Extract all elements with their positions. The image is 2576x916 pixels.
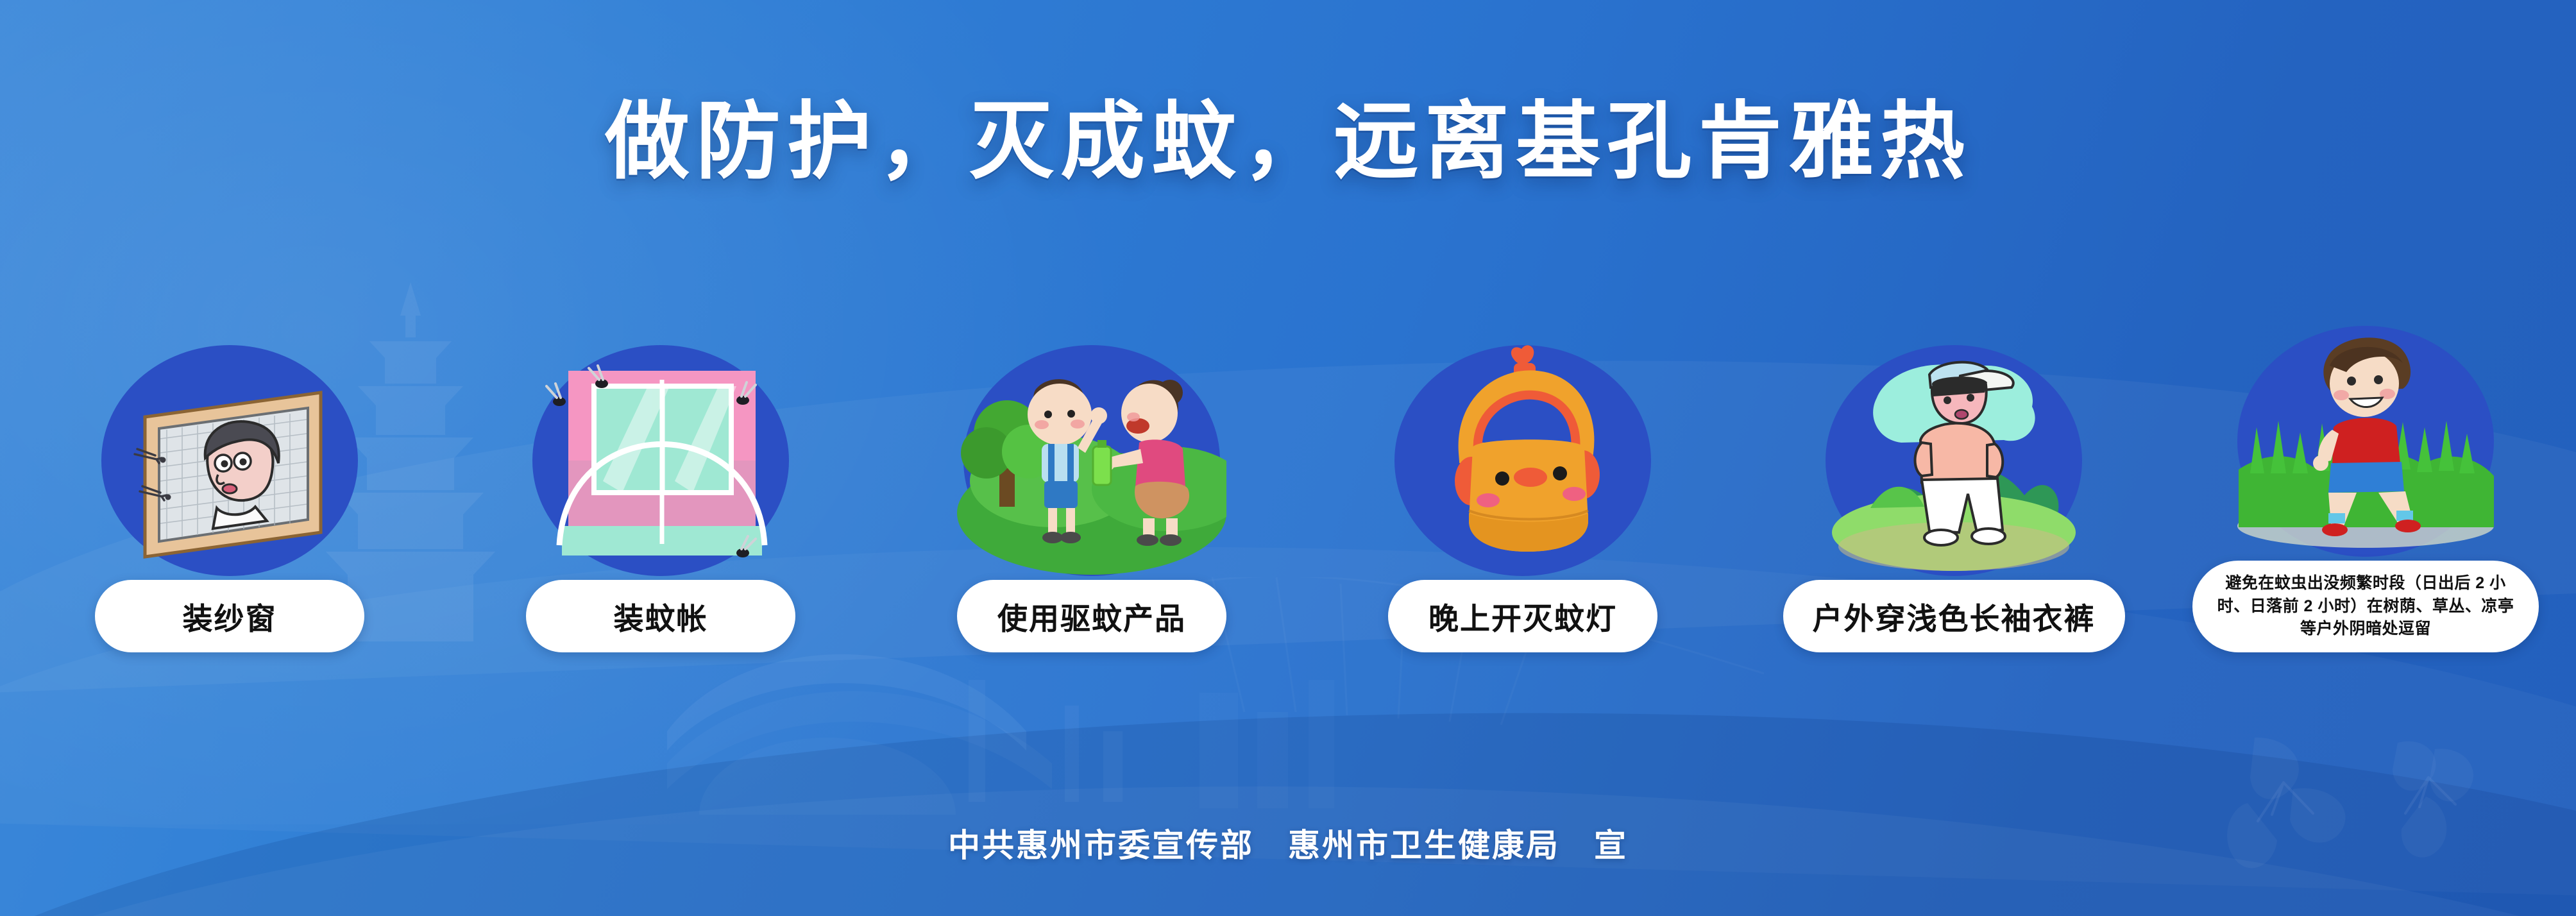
health-poster-banner: 做防护，灭成蚊，远离基孔肯雅热 [0,0,2576,916]
measure-label: 装纱窗 [95,580,364,652]
measure-art-area [1755,314,2153,584]
measure-art-area [31,314,428,584]
light-long-sleeve-clothing-illustration-icon [1819,321,2089,584]
measure-label: 避免在蚊虫出没频繁时段（日出后 2 小时、日落前 2 小时）在树荫、草丛、凉亭等… [2192,561,2539,652]
measure-art-area [2186,295,2545,564]
measure-card-mosquito-net[interactable]: 装蚊帐 [462,314,860,652]
measure-card-mosquito-lamp[interactable]: 晚上开灭蚊灯 [1324,314,1722,652]
window-screen-illustration-icon [95,321,364,584]
mosquito-lamp-illustration-icon [1388,321,1657,584]
measure-label: 晚上开灭蚊灯 [1388,580,1657,652]
mosquito-net-illustration-icon [526,321,795,584]
measure-art-area [893,314,1291,584]
measure-card-repellent[interactable]: 使用驱蚊产品 [893,314,1291,652]
measure-label: 户外穿浅色长袖衣裤 [1783,580,2125,652]
footer-container: 中共惠州市委宣传部 惠州市卫生健康局 宣 [0,820,2576,866]
background-sweep-lower [0,681,2576,916]
measure-art-area [462,314,860,584]
measure-label: 使用驱蚊产品 [957,580,1226,652]
measure-card-window-screen[interactable]: 装纱窗 [31,314,428,652]
headline-container: 做防护，灭成蚊，远离基孔肯雅热 [0,32,2576,251]
page-title: 做防护，灭成蚊，远离基孔肯雅热 [605,89,1971,194]
footer-credit: 中共惠州市委宣传部 惠州市卫生健康局 宣 [948,827,1628,863]
measure-art-area [1324,314,1722,584]
measure-label: 装蚊帐 [526,580,795,652]
mosquito-repellent-illustration-icon [957,321,1226,584]
measure-card-long-sleeves[interactable]: 户外穿浅色长袖衣裤 [1755,314,2153,652]
measure-card-avoid-dusk[interactable]: 避免在蚊虫出没频繁时段（日出后 2 小时、日落前 2 小时）在树荫、草丛、凉亭等… [2186,295,2545,652]
prevention-measures-row: 装纱窗 [0,295,2576,652]
avoid-outdoor-dusk-illustration-icon [2231,301,2500,564]
